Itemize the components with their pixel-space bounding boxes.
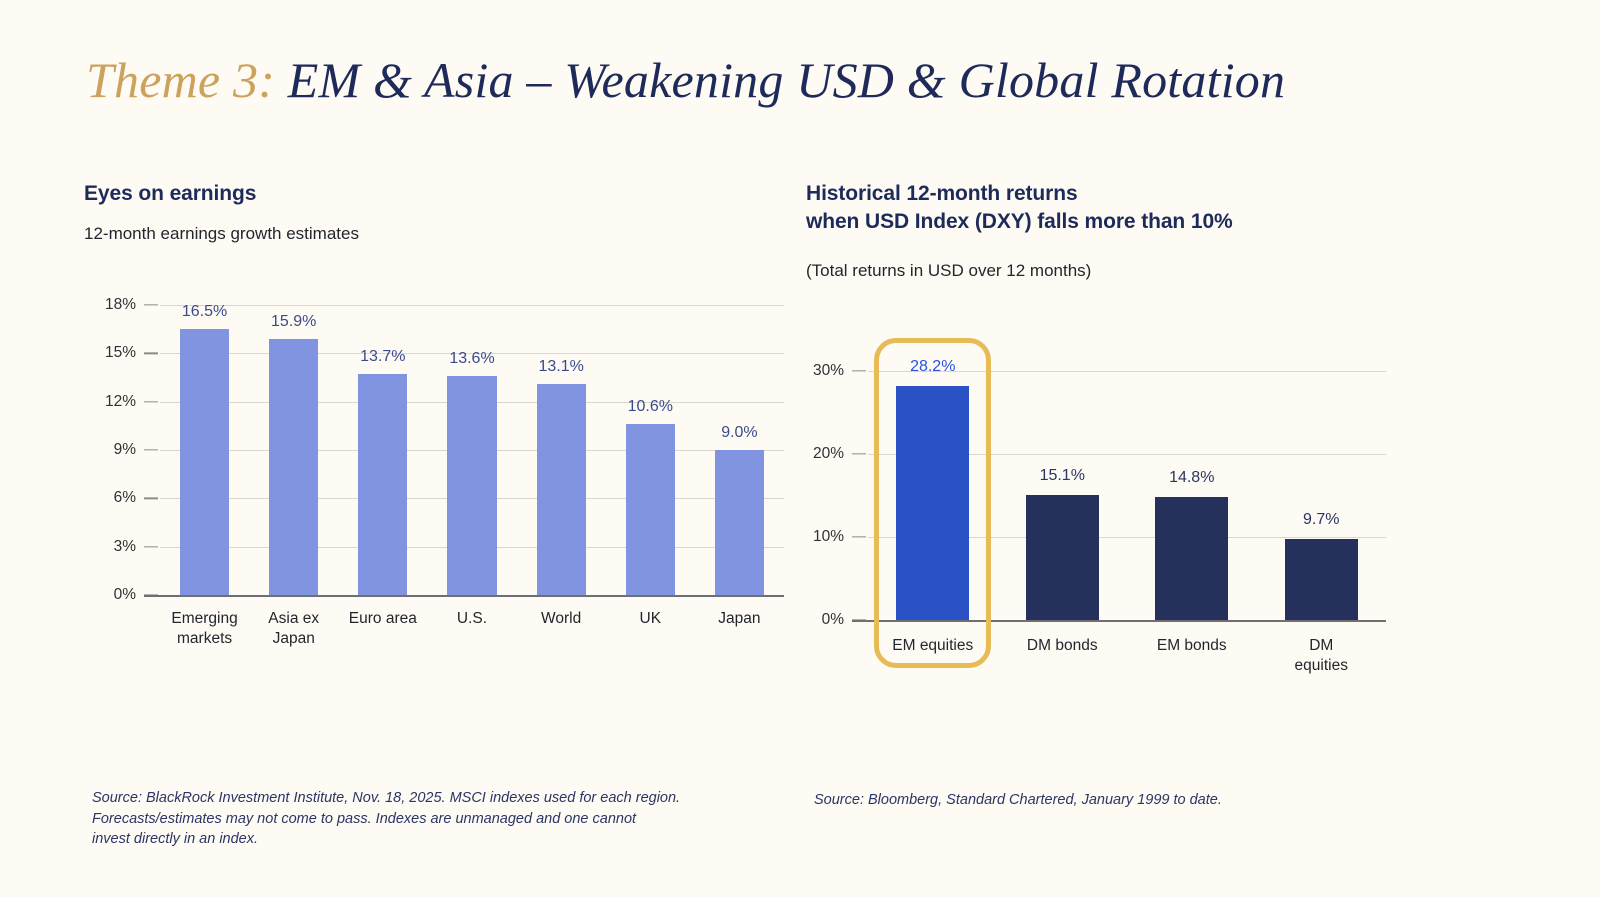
x-axis-category-label: Asia ex Japan [268,609,319,649]
right-panel-heading-line2: when USD Index (DXY) falls more than 10% [806,208,1366,236]
dxy-returns-plot: 0%10%20%30%28.2%EM equities15.1%DM bonds… [806,330,1386,720]
left-panel-subheading: 12-month earnings growth estimates [84,224,359,244]
right-panel-subheading: (Total returns in USD over 12 months) [806,261,1091,281]
left-source-note: Source: BlackRock Investment Institute, … [92,788,732,850]
earnings-growth-chart: 0%3%6%9%12%15%18%16.5%Emerging markets15… [84,295,784,715]
bar-value-label: 10.6% [628,398,673,416]
bar-value-label: 13.6% [449,350,494,368]
left-panel-heading: Eyes on earnings [84,180,256,208]
x-axis-category-label: DM bonds [1027,636,1098,656]
slide-canvas: Theme 3: EM & Asia – Weakening USD & Glo… [0,0,1600,897]
y-axis-tick-mark [144,304,158,305]
x-axis-category-label: Emerging markets [171,609,237,649]
chart-bar [269,339,318,595]
x-axis-category-label: Japan [718,609,760,629]
x-axis-category-label: EM equities [892,636,973,656]
chart-bar [896,386,969,620]
y-axis-tick-mark [144,401,158,402]
x-axis-line [852,620,1386,622]
chart-bar [715,450,764,595]
title-theme-label: Theme 3: [86,52,288,108]
chart-bar [1285,539,1358,620]
y-axis-tick-mark [852,370,866,371]
chart-bar [626,424,675,595]
x-axis-category-label: U.S. [457,609,487,629]
y-axis-tick-mark [852,536,866,537]
chart-bar [358,374,407,595]
x-axis-category-label: DM equities [1289,636,1354,676]
chart-bar [447,376,496,595]
y-axis-tick-mark [144,353,158,354]
right-panel-heading-line1: Historical 12-month returns [806,180,1366,208]
bar-value-label: 28.2% [910,358,955,376]
gridline [160,305,784,306]
bar-value-label: 14.8% [1169,469,1214,487]
bar-value-label: 9.7% [1303,511,1339,529]
x-axis-category-label: Euro area [349,609,417,629]
chart-bar [1026,495,1099,620]
title-theme-body: EM & Asia – Weakening USD & Global Rotat… [288,52,1285,108]
bar-value-label: 9.0% [721,424,757,442]
chart-bar [1155,497,1228,620]
bar-value-label: 13.7% [360,348,405,366]
bar-value-label: 16.5% [182,303,227,321]
chart-bar [537,384,586,595]
y-axis-tick-mark [144,498,158,499]
x-axis-category-label: UK [640,609,662,629]
y-axis-tick-label: 15% [84,344,136,362]
y-axis-tick-mark [852,453,866,454]
y-axis-tick-label: 6% [84,489,136,507]
chart-bar [180,329,229,595]
page-title: Theme 3: EM & Asia – Weakening USD & Glo… [86,55,1285,105]
y-axis-tick-label: 3% [84,538,136,556]
x-axis-category-label: World [541,609,581,629]
bar-value-label: 13.1% [538,358,583,376]
x-axis-category-label: EM bonds [1157,636,1227,656]
bar-value-label: 15.9% [271,313,316,331]
y-axis-tick-mark [144,546,158,547]
right-panel-heading: Historical 12-month returns when USD Ind… [806,180,1366,235]
y-axis-tick-label: 0% [806,611,844,629]
y-axis-tick-label: 0% [84,586,136,604]
y-axis-tick-label: 9% [84,441,136,459]
dxy-returns-chart: 0%10%20%30%28.2%EM equities15.1%DM bonds… [806,330,1386,720]
y-axis-tick-mark [144,449,158,450]
bar-value-label: 15.1% [1040,467,1085,485]
x-axis-line [144,595,784,597]
right-source-note: Source: Bloomberg, Standard Chartered, J… [814,790,1334,811]
y-axis-tick-label: 18% [84,296,136,314]
y-axis-tick-label: 30% [806,362,844,380]
y-axis-tick-label: 20% [806,445,844,463]
earnings-growth-plot: 0%3%6%9%12%15%18%16.5%Emerging markets15… [84,295,784,715]
y-axis-tick-label: 12% [84,393,136,411]
y-axis-tick-label: 10% [806,528,844,546]
